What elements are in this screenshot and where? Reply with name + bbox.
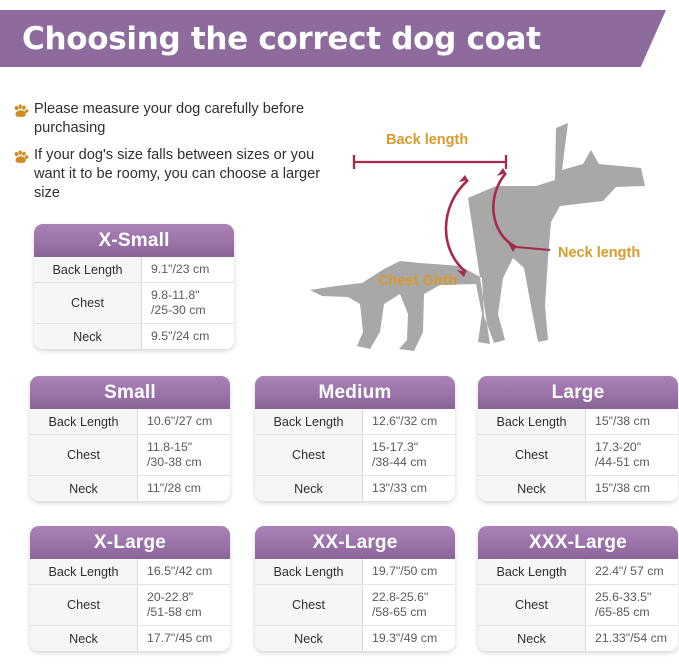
row-label: Neck — [30, 476, 138, 501]
row-label: Neck — [34, 324, 142, 349]
size-table-medium: Medium Back Length 12.6"/32 cm Chest 15-… — [255, 376, 455, 501]
list-item: If your dog's size falls between sizes o… — [12, 146, 332, 204]
row-value: 17.3-20" /44-51 cm — [586, 435, 678, 475]
diagram-label-back-length: Back length — [386, 132, 468, 148]
table-row: Back Length 16.5"/42 cm — [30, 559, 230, 584]
size-table-title: X-Small — [34, 224, 234, 257]
table-row: Neck 9.5"/24 cm — [34, 323, 234, 349]
row-value: 17.7"/45 cm — [138, 626, 230, 651]
diagram-label-chest-girth: Chest Girth — [378, 273, 457, 289]
row-value: 22.8-25.6" /58-65 cm — [363, 585, 455, 625]
table-row: Neck 21.33"/54 cm — [478, 625, 678, 651]
table-row: Neck 17.7"/45 cm — [30, 625, 230, 651]
row-label: Neck — [255, 476, 363, 501]
size-table-small: Small Back Length 10.6"/27 cm Chest 11.8… — [30, 376, 230, 501]
page-title-banner: Choosing the correct dog coat — [0, 10, 666, 67]
row-label: Back Length — [478, 409, 586, 434]
row-label: Chest — [478, 435, 586, 475]
size-table-title: Large — [478, 376, 678, 409]
row-label: Neck — [478, 476, 586, 501]
list-item-text: Please measure your dog carefully before… — [34, 100, 332, 139]
list-item-text: If your dog's size falls between sizes o… — [34, 146, 332, 204]
table-row: Back Length 19.7"/50 cm — [255, 559, 455, 584]
row-label: Neck — [30, 626, 138, 651]
table-row: Neck 19.3"/49 cm — [255, 625, 455, 651]
size-table-title: Small — [30, 376, 230, 409]
table-row: Back Length 12.6"/32 cm — [255, 409, 455, 434]
row-label: Back Length — [255, 559, 363, 584]
size-table-body: Back Length 12.6"/32 cm Chest 15-17.3" /… — [255, 409, 455, 501]
size-table-title: Medium — [255, 376, 455, 409]
chest-girth-measure-loop — [446, 175, 468, 277]
row-label: Back Length — [478, 559, 586, 584]
row-label: Chest — [30, 435, 138, 475]
table-row: Back Length 15"/38 cm — [478, 409, 678, 434]
row-value: 15"/38 cm — [586, 409, 678, 434]
table-row: Back Length 22.4"/ 57 cm — [478, 559, 678, 584]
table-row: Back Length 10.6"/27 cm — [30, 409, 230, 434]
row-value: 19.7"/50 cm — [363, 559, 455, 584]
row-value: 22.4"/ 57 cm — [586, 559, 678, 584]
size-table-xlarge: X-Large Back Length 16.5"/42 cm Chest 20… — [30, 526, 230, 651]
row-label: Neck — [255, 626, 363, 651]
table-row: Chest 11.8-15" /30-38 cm — [30, 434, 230, 475]
row-label: Chest — [478, 585, 586, 625]
size-table-title: XXX-Large — [478, 526, 678, 559]
diagram-label-neck-length: Neck length — [558, 245, 640, 261]
table-row: Neck 13"/33 cm — [255, 475, 455, 501]
row-value: 21.33"/54 cm — [586, 626, 678, 651]
row-value: 15"/38 cm — [586, 476, 678, 501]
size-table-xxlarge: XX-Large Back Length 19.7"/50 cm Chest 2… — [255, 526, 455, 651]
instructions-list: Please measure your dog carefully before… — [12, 100, 332, 210]
row-value: 25.6-33.5" /65-85 cm — [586, 585, 678, 625]
dog-silhouette-shape — [310, 123, 645, 351]
row-label: Back Length — [30, 409, 138, 434]
table-row: Neck 11"/28 cm — [30, 475, 230, 501]
size-table-body: Back Length 15"/38 cm Chest 17.3-20" /44… — [478, 409, 678, 501]
dog-silhouette-svg — [300, 118, 679, 363]
size-table-body: Back Length 22.4"/ 57 cm Chest 25.6-33.5… — [478, 559, 678, 651]
table-row: Chest 17.3-20" /44-51 cm — [478, 434, 678, 475]
table-row: Chest 15-17.3" /38-44 cm — [255, 434, 455, 475]
row-value: 16.5"/42 cm — [138, 559, 230, 584]
table-row: Chest 20-22.8" /51-58 cm — [30, 584, 230, 625]
table-row: Chest 9.8-11.8" /25-30 cm — [34, 282, 234, 323]
row-value: 11"/28 cm — [138, 476, 230, 501]
size-table-body: Back Length 16.5"/42 cm Chest 20-22.8" /… — [30, 559, 230, 651]
row-value: 9.8-11.8" /25-30 cm — [142, 283, 234, 323]
row-value: 11.8-15" /30-38 cm — [138, 435, 230, 475]
row-label: Neck — [478, 626, 586, 651]
table-row: Chest 22.8-25.6" /58-65 cm — [255, 584, 455, 625]
row-value: 9.5"/24 cm — [142, 324, 234, 349]
size-table-large: Large Back Length 15"/38 cm Chest 17.3-2… — [478, 376, 678, 501]
size-table-body: Back Length 10.6"/27 cm Chest 11.8-15" /… — [30, 409, 230, 501]
dog-measurement-diagram: Back length Neck length Chest Girth — [300, 118, 679, 363]
size-table-title: X-Large — [30, 526, 230, 559]
row-label: Back Length — [30, 559, 138, 584]
row-value: 12.6"/32 cm — [363, 409, 455, 434]
paw-print-icon — [12, 103, 29, 120]
size-table-body: Back Length 19.7"/50 cm Chest 22.8-25.6"… — [255, 559, 455, 651]
page-title: Choosing the correct dog coat — [0, 21, 541, 57]
table-row: Chest 25.6-33.5" /65-85 cm — [478, 584, 678, 625]
table-row: Neck 15"/38 cm — [478, 475, 678, 501]
row-label: Back Length — [255, 409, 363, 434]
row-value: 13"/33 cm — [363, 476, 455, 501]
list-item: Please measure your dog carefully before… — [12, 100, 332, 139]
size-table-body: Back Length 9.1"/23 cm Chest 9.8-11.8" /… — [34, 257, 234, 349]
row-label: Chest — [30, 585, 138, 625]
row-label: Back Length — [34, 257, 142, 282]
size-table-xxxlarge: XXX-Large Back Length 22.4"/ 57 cm Chest… — [478, 526, 678, 651]
paw-print-icon — [12, 149, 29, 166]
row-value: 10.6"/27 cm — [138, 409, 230, 434]
row-value: 9.1"/23 cm — [142, 257, 234, 282]
size-table-xsmall: X-Small Back Length 9.1"/23 cm Chest 9.8… — [34, 224, 234, 349]
row-value: 19.3"/49 cm — [363, 626, 455, 651]
row-label: Chest — [255, 585, 363, 625]
row-value: 20-22.8" /51-58 cm — [138, 585, 230, 625]
row-label: Chest — [255, 435, 363, 475]
row-label: Chest — [34, 283, 142, 323]
row-value: 15-17.3" /38-44 cm — [363, 435, 455, 475]
size-table-title: XX-Large — [255, 526, 455, 559]
back-length-measure-line — [354, 155, 506, 169]
table-row: Back Length 9.1"/23 cm — [34, 257, 234, 282]
